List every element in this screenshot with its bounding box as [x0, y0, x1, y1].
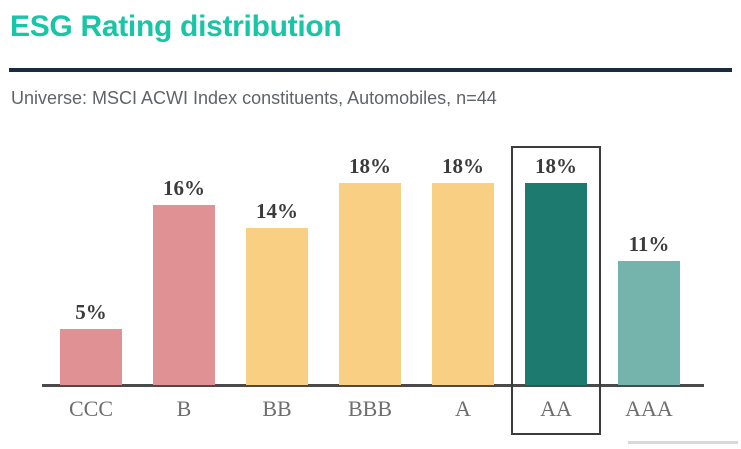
bar-value-label-aa: 18% [525, 154, 587, 179]
bar-value-label-ccc: 5% [60, 300, 122, 325]
footer-rule [628, 441, 738, 444]
bar-aa[interactable] [525, 183, 587, 386]
x-axis-label-a: A [418, 396, 508, 422]
bar-value-label-bbb: 18% [339, 154, 401, 179]
x-axis-label-bbb: BBB [325, 396, 415, 422]
bar-ccc[interactable] [60, 329, 122, 385]
bar-b[interactable] [153, 205, 215, 385]
bar-value-label-a: 18% [432, 154, 494, 179]
bar-aaa[interactable] [618, 261, 680, 385]
bar-chart: 5%CCC16%B14%BB18%BBB18%A18%AA11%AAA [0, 0, 741, 449]
x-axis-label-aaa: AAA [604, 396, 694, 422]
bar-value-label-bb: 14% [246, 199, 308, 224]
x-axis-label-ccc: CCC [46, 396, 136, 422]
bar-bb[interactable] [246, 228, 308, 386]
bar-bbb[interactable] [339, 183, 401, 386]
bar-a[interactable] [432, 183, 494, 386]
x-axis-label-bb: BB [232, 396, 322, 422]
esg-rating-distribution-slide: ESG Rating distribution Universe: MSCI A… [0, 0, 741, 449]
bar-value-label-aaa: 11% [618, 232, 680, 257]
x-axis-label-b: B [139, 396, 229, 422]
x-axis-label-aa: AA [511, 396, 601, 422]
bar-value-label-b: 16% [153, 176, 215, 201]
